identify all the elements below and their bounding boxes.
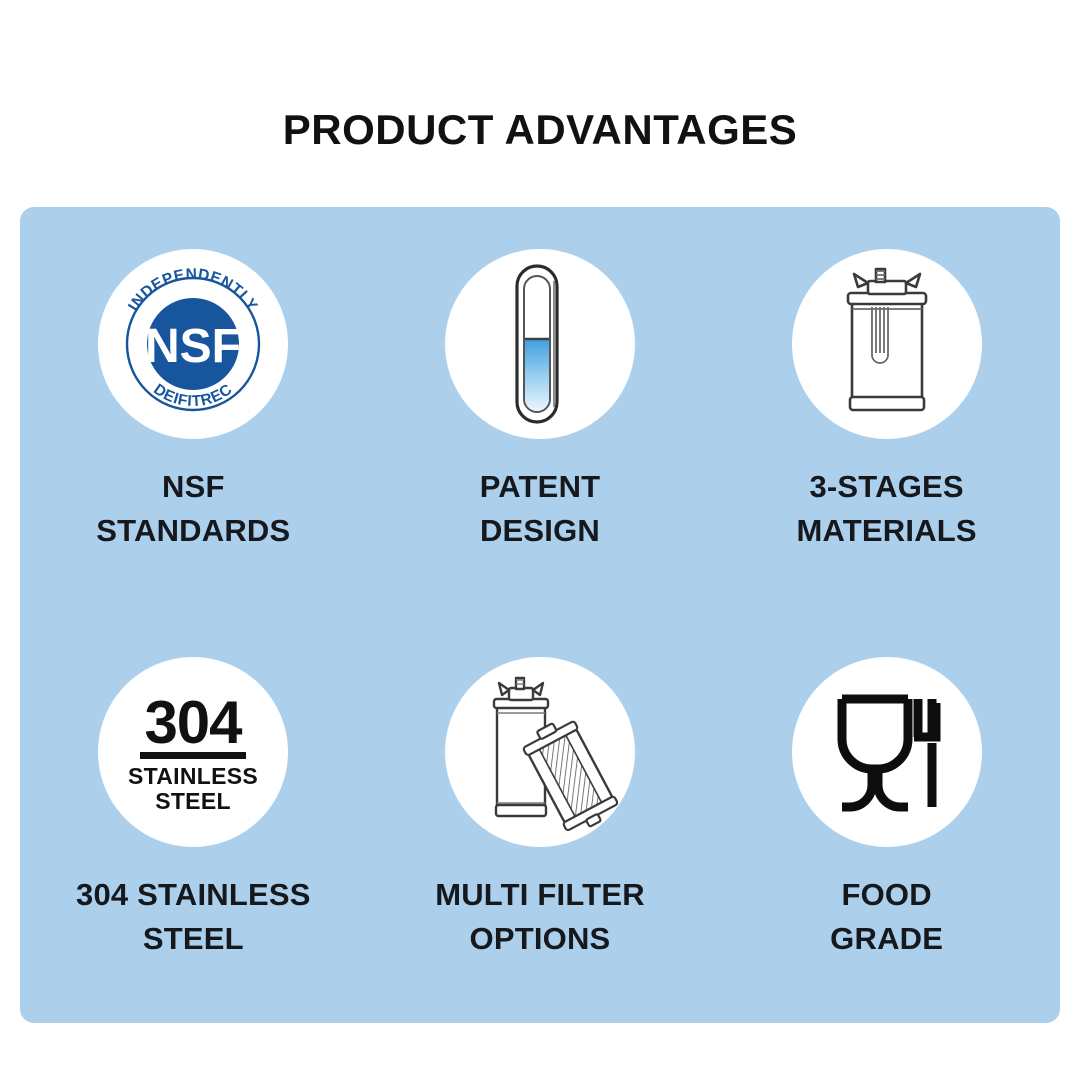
nsf-certification-badge-icon: INDEPENDENTLY DEIFITREC NSF (98, 249, 288, 439)
icon-circle-304-stainless: 304 STAINLESS STEEL (98, 657, 288, 847)
advantage-label-food-grade: FOOD GRADE (830, 873, 943, 961)
advantage-item-304-stainless-steel[interactable]: 304 STAINLESS STEEL 304 STAINLESS STEEL (20, 615, 367, 1023)
food-grade-glass-fork-icon (792, 657, 982, 847)
svg-text:STAINLESS: STAINLESS (128, 763, 258, 789)
three-stage-filter-cartridge-icon (792, 249, 982, 439)
filter-tube-patent-icon (445, 249, 635, 439)
icon-circle-multi-filter (445, 657, 635, 847)
advantage-label-patent-design: PATENT DESIGN (480, 465, 601, 553)
advantage-item-food-grade[interactable]: FOOD GRADE (713, 615, 1060, 1023)
icon-circle-patent (445, 249, 635, 439)
page-title: PRODUCT ADVANTAGES (0, 106, 1080, 154)
advantage-label-multi-filter-options: MULTI FILTER OPTIONS (435, 873, 645, 961)
advantage-label-nsf-standards: NSF STANDARDS (96, 465, 290, 553)
advantage-label-304-stainless-steel: 304 STAINLESS STEEL (76, 873, 311, 961)
icon-circle-3-stages (792, 249, 982, 439)
advantage-item-nsf-standards[interactable]: INDEPENDENTLY DEIFITREC NSF NSF STANDARD… (20, 207, 367, 615)
advantages-panel: INDEPENDENTLY DEIFITREC NSF NSF STANDARD… (20, 207, 1060, 1023)
svg-text:304: 304 (145, 689, 244, 756)
advantage-item-3-stages-materials[interactable]: 3-STAGES MATERIALS (713, 207, 1060, 615)
advantage-label-3-stages-materials: 3-STAGES MATERIALS (796, 465, 976, 553)
multiple-filter-cartridges-icon (445, 657, 635, 847)
icon-circle-food-grade (792, 657, 982, 847)
svg-text:NSF: NSF (145, 320, 241, 373)
icon-circle-nsf: INDEPENDENTLY DEIFITREC NSF (98, 249, 288, 439)
advantage-item-patent-design[interactable]: PATENT DESIGN (367, 207, 714, 615)
304-stainless-steel-stamp-icon: 304 STAINLESS STEEL (98, 657, 288, 847)
svg-text:STEEL: STEEL (156, 788, 232, 814)
advantage-item-multi-filter-options[interactable]: MULTI FILTER OPTIONS (367, 615, 714, 1023)
